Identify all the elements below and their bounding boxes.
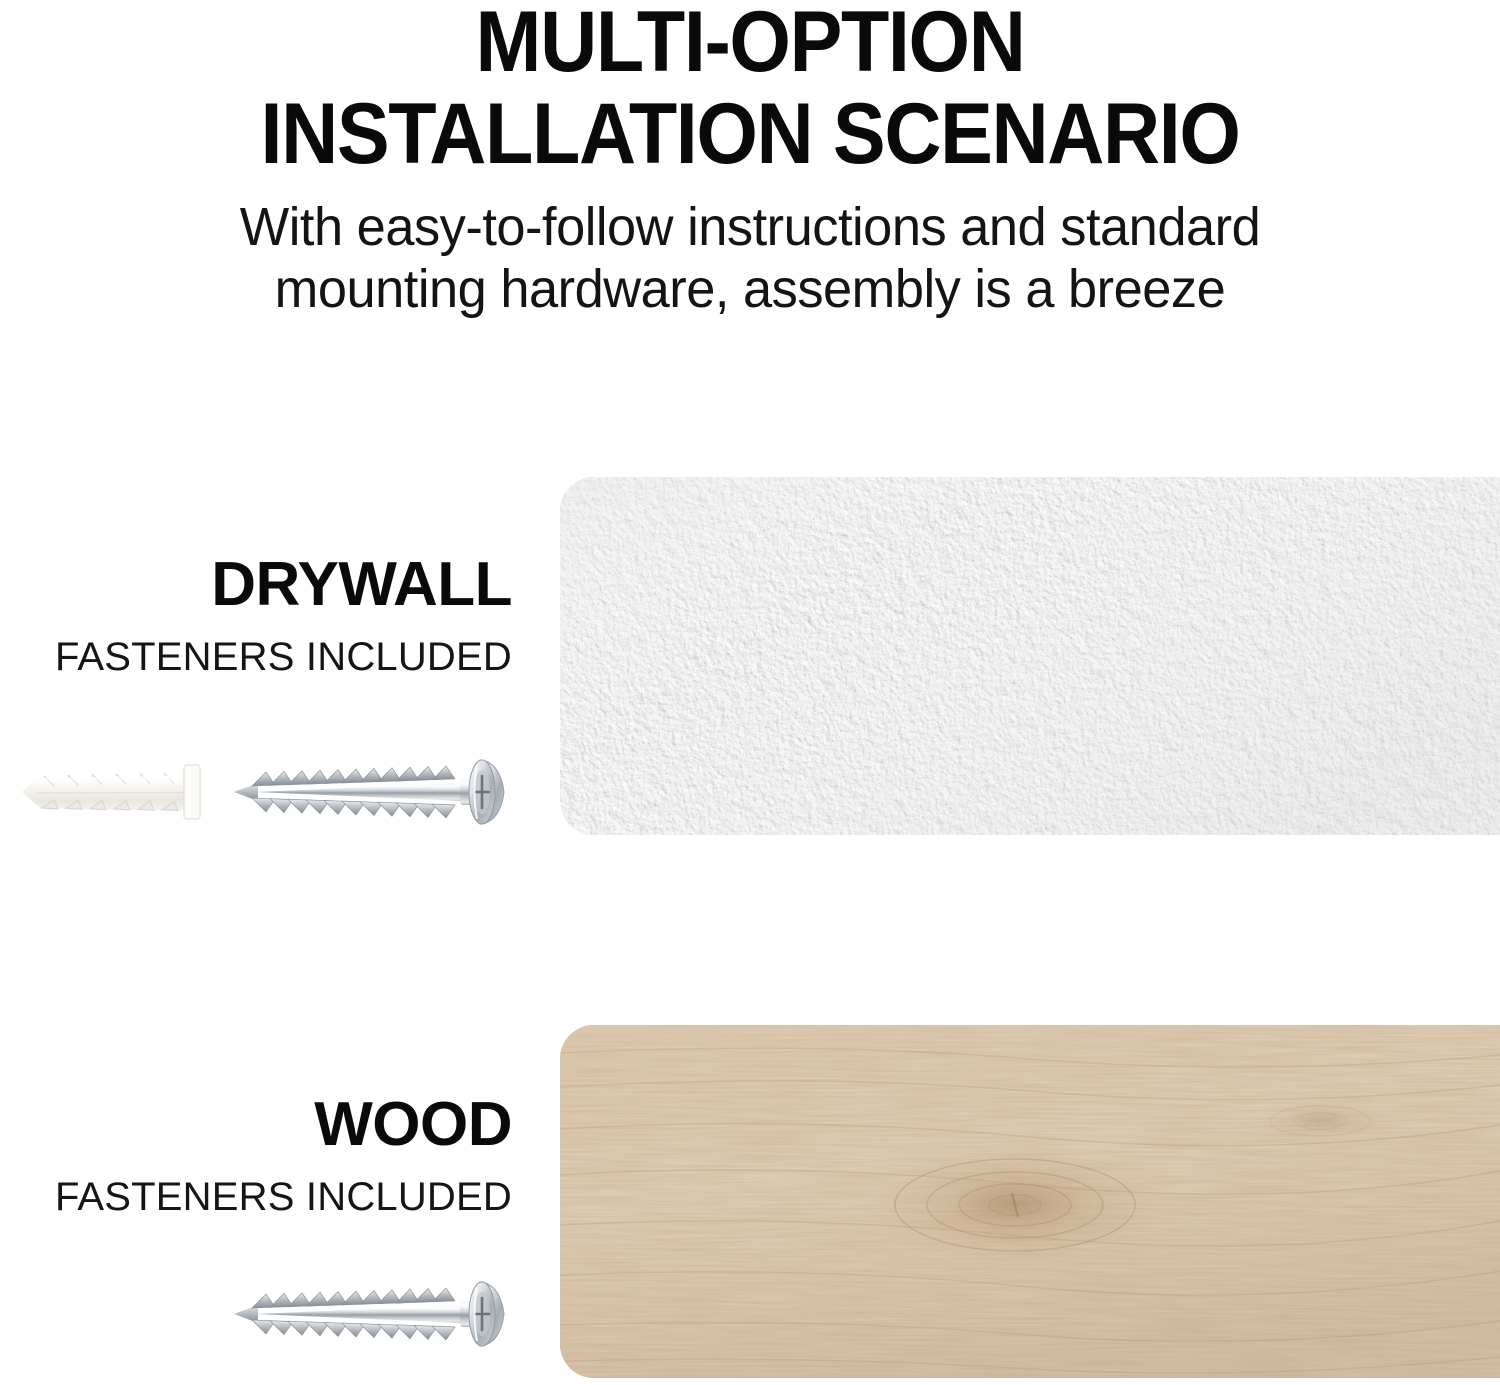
page-subtitle-line-1: With easy-to-follow instructions and sta… [23,196,1478,258]
page-subtitle: With easy-to-follow instructions and sta… [0,196,1500,320]
wall-anchor-icon [14,756,214,828]
header: MULTI-OPTION INSTALLATION SCENARIO With … [0,0,1500,330]
wood-material-panel [560,1025,1500,1378]
screw-graphic [228,752,518,832]
wood-hardware-row [0,1270,525,1360]
wood-heading: WOOD [0,1092,512,1158]
page-title: MULTI-OPTION INSTALLATION SCENARIO [0,0,1500,180]
wood-label-group: WOOD FASTENERS INCLUDED [0,1092,512,1220]
drywall-material-panel [560,477,1500,835]
wood-texture [560,1025,1500,1378]
wall-anchor-graphic [14,756,214,828]
page-subtitle-line-2: mounting hardware, assembly is a breeze [23,258,1478,320]
screw-icon [228,752,518,832]
wood-subheading: FASTENERS INCLUDED [0,1174,512,1220]
drywall-hardware-row [0,748,525,838]
drywall-label-group: DRYWALL FASTENERS INCLUDED [0,552,512,680]
page-title-line-2: INSTALLATION SCENARIO [60,88,1440,180]
screw-icon [228,1274,518,1354]
screw-graphic [228,1274,518,1354]
drywall-texture [560,477,1500,835]
drywall-heading: DRYWALL [0,552,512,618]
page-title-line-1: MULTI-OPTION [60,0,1440,88]
drywall-subheading: FASTENERS INCLUDED [0,634,512,680]
